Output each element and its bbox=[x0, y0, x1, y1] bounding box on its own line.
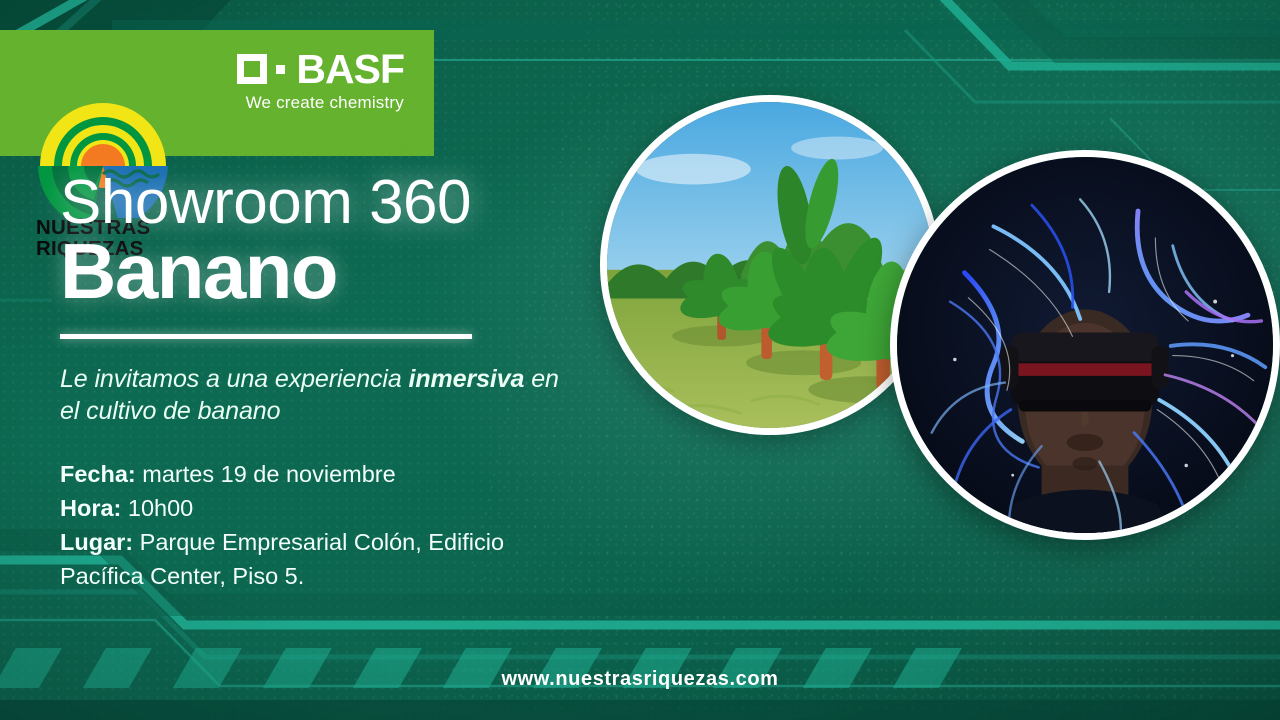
vr-headset-photo bbox=[890, 150, 1280, 540]
divider-rule bbox=[60, 334, 472, 339]
detail-value-hora: 10h00 bbox=[121, 495, 193, 521]
basf-square-icon bbox=[237, 54, 267, 84]
detail-value-fecha: martes 19 de noviembre bbox=[136, 461, 396, 487]
detail-row-lugar: Lugar: Parque Empresarial Colón, Edifici… bbox=[60, 525, 580, 593]
basf-mark: BASF bbox=[237, 54, 404, 84]
vr-headset-illustration bbox=[897, 157, 1273, 533]
banana-plantation-photo bbox=[600, 95, 940, 435]
basf-tagline: We create chemistry bbox=[237, 93, 404, 113]
event-details: Fecha: martes 19 de noviembre Hora: 10h0… bbox=[60, 457, 580, 593]
detail-row-fecha: Fecha: martes 19 de noviembre bbox=[60, 457, 580, 491]
detail-label-lugar: Lugar: bbox=[60, 529, 133, 555]
poster-canvas: BASF We create chemistry bbox=[0, 0, 1280, 720]
detail-label-fecha: Fecha: bbox=[60, 461, 136, 487]
subtitle-emphasis: inmersiva bbox=[409, 365, 525, 393]
detail-label-hora: Hora: bbox=[60, 495, 121, 521]
subtitle-part-1: Le invitamos a una experiencia bbox=[60, 365, 409, 393]
detail-row-hora: Hora: 10h00 bbox=[60, 491, 580, 525]
subtitle: Le invitamos a una experiencia inmersiva… bbox=[60, 363, 580, 427]
basf-logo: BASF We create chemistry bbox=[237, 54, 404, 113]
footer-website-url[interactable]: www.nuestrasriquezas.com bbox=[0, 668, 1280, 691]
banana-plantation-illustration bbox=[607, 102, 933, 428]
headline-banano: Banano bbox=[60, 230, 580, 312]
basf-dot-icon bbox=[276, 65, 285, 74]
basf-wordmark: BASF bbox=[296, 54, 404, 84]
main-content: Showroom 360 Banano Le invitamos a una e… bbox=[60, 170, 580, 593]
